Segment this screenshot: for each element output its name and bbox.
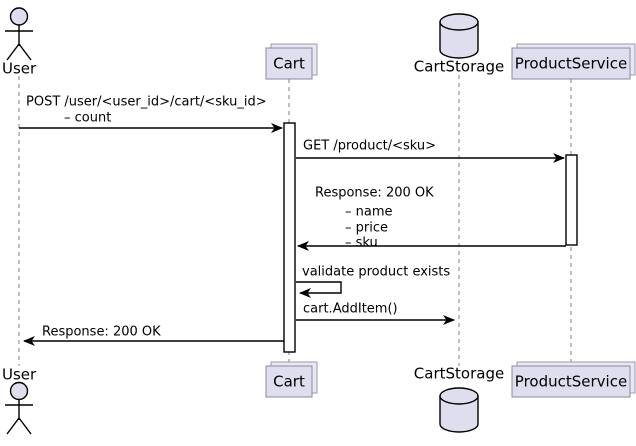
- participant-label-productservice-top: ProductService: [515, 55, 627, 73]
- message-get-product[interactable]: GET /product/<sku>: [296, 139, 564, 159]
- message-label-product-response-line1: Response: 200 OK: [315, 186, 434, 201]
- message-arrow-validate-product: [296, 282, 341, 293]
- activation-bar-productservice: [566, 155, 577, 245]
- participant-label-user-bottom: User: [2, 366, 37, 384]
- message-label-product-response-line2: – name: [345, 205, 393, 220]
- participant-cart-top[interactable]: Cart: [266, 44, 317, 79]
- message-label-post-cart-line2: – count: [64, 111, 111, 126]
- participant-label-cartstorage-bottom: CartStorage: [414, 365, 504, 383]
- message-label-cart-additem: cart.AddItem(): [303, 302, 398, 317]
- database-cylinder-top-bottom-icon: [440, 388, 478, 404]
- message-label-post-cart-line1: POST /user/<user_id>/cart/<sku_id>: [26, 95, 267, 110]
- message-label-cart-response: Response: 200 OK: [42, 325, 161, 340]
- participant-cart-bottom[interactable]: Cart: [266, 362, 317, 397]
- participant-user-top[interactable]: User: [2, 8, 37, 78]
- message-product-response[interactable]: Response: 200 OK – name – price – sku: [298, 186, 566, 251]
- participant-label-user-top: User: [2, 60, 37, 78]
- actor-leg-right-icon: [19, 44, 31, 60]
- participant-productservice-top[interactable]: ProductService: [512, 44, 635, 79]
- participant-label-cart-bottom: Cart: [273, 373, 305, 391]
- database-cylinder-top-icon: [440, 14, 478, 30]
- activation-bar-cart: [284, 123, 295, 352]
- message-cart-additem[interactable]: cart.AddItem(): [296, 302, 454, 321]
- participant-cartstorage-top[interactable]: CartStorage: [414, 14, 504, 76]
- message-label-product-response-line3: – price: [345, 221, 388, 236]
- participant-label-productservice-bottom: ProductService: [515, 373, 627, 391]
- participant-cartstorage-bottom[interactable]: CartStorage: [414, 365, 504, 433]
- message-post-cart[interactable]: POST /user/<user_id>/cart/<sku_id> – cou…: [19, 95, 282, 129]
- actor-head-icon: [11, 8, 28, 25]
- participant-productservice-bottom[interactable]: ProductService: [512, 362, 635, 397]
- message-label-get-product: GET /product/<sku>: [303, 139, 436, 154]
- sequence-diagram-svg: User Cart CartStorage ProductService: [0, 0, 636, 446]
- participant-user-bottom[interactable]: User: [2, 366, 37, 435]
- message-label-validate-product: validate product exists: [302, 265, 450, 280]
- actor-leg-left-icon: [7, 44, 19, 60]
- actor-leg-left-bottom-icon: [7, 418, 19, 434]
- message-label-product-response-line4: – sku: [345, 236, 378, 251]
- sequence-diagram-canvas: User Cart CartStorage ProductService: [0, 0, 636, 446]
- actor-leg-right-bottom-icon: [19, 418, 31, 434]
- message-validate-product[interactable]: validate product exists: [296, 265, 450, 294]
- participant-label-cart-top: Cart: [273, 55, 305, 73]
- participant-label-cartstorage-top: CartStorage: [414, 58, 504, 76]
- message-cart-response[interactable]: Response: 200 OK: [24, 325, 284, 342]
- actor-head-bottom-icon: [11, 383, 28, 400]
